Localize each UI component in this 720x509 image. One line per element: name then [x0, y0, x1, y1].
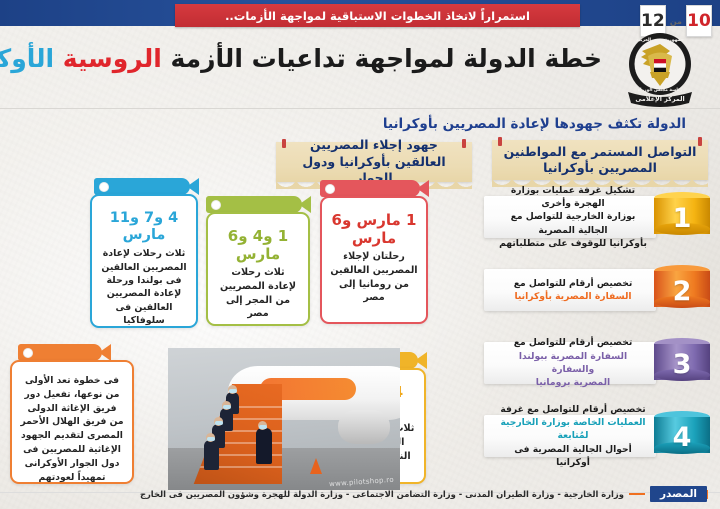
photo-traffic-cone: [310, 458, 322, 474]
subtitle-bar: الدولة تكثف جهودها لإعادة المصريين بأوكر…: [0, 112, 720, 136]
numbered-item-4-line3: أحوال الجالية المصرية فى أوكرانيا: [498, 443, 648, 470]
card-blue: 4 و7 و11 مارس ثلاث رحلات لإعادة المصريين…: [90, 194, 198, 328]
svg-text:رئاسة مجلس الوزراء: رئاسة مجلس الوزراء: [638, 88, 683, 93]
svg-text:المركز الإعلامى: المركز الإعلامى: [635, 95, 684, 103]
subtitle-text: الدولة تكثف جهودها لإعادة المصريين بأوكر…: [383, 116, 686, 132]
numbered-item-1-line1: تشكيل غرفة عمليات بوزارة الهجرة وأخرى: [498, 184, 648, 211]
numbered-item-2-line2: السفارة المصرية بأوكرانيا: [514, 290, 633, 303]
kicker-text: استمراراً لاتخاذ الخطوات الاستباقية لموا…: [225, 9, 530, 23]
source-tick: [707, 490, 708, 499]
numbered-item-2-line1: تخصيص أرقام للتواصل مع: [514, 277, 633, 290]
page-of-label: من: [669, 17, 683, 26]
numbered-item-1-text: تشكيل غرفة عمليات بوزارة الهجرة وأخرى بو…: [484, 196, 656, 238]
svg-text:جمهورية مصر العربية: جمهورية مصر العربية: [636, 38, 684, 43]
hanger-hole: [23, 348, 33, 358]
source-text: وزارة الخارجية - وزارة الطيران المدنى - …: [140, 489, 624, 499]
card-orange-hanger: [18, 344, 102, 361]
evacuation-flight-photo: www.pilotshop.ro: [168, 348, 400, 490]
card-blue-desc: ثلاث رحلات لإعادة المصريين العالقين فى ب…: [100, 247, 188, 327]
title-highlight-ukrainian: الأوكرانية: [0, 44, 54, 73]
photo-aircraft-engine: [338, 410, 390, 444]
pin-icon: [498, 137, 502, 146]
numbered-item-3-line3: المصرية برومانيا: [498, 376, 648, 389]
card-orange: فى خطوة تعد الأولى من نوعها، تفعيل دور ف…: [10, 360, 134, 484]
header-divider: [0, 108, 720, 109]
numbered-item-3-line2: السفارة المصرية ببولندا والسفارة: [498, 350, 648, 377]
pin-icon: [282, 139, 286, 148]
page-title: خطة الدولة لمواجهة تداعيات الأزمة الروسي…: [10, 44, 602, 73]
numbered-item-1-number: 1: [654, 200, 710, 236]
card-red-hanger: [320, 180, 420, 197]
hanger-hole: [211, 200, 221, 210]
numbered-item-3-number: 3: [654, 346, 710, 382]
photo-crew-member: [204, 440, 219, 470]
card-red-date: 1 مارس و6 مارس: [330, 212, 418, 247]
numbered-item-3-cylinder: 3: [654, 338, 710, 388]
card-green-date: 1 و4 و6 مارس: [216, 228, 300, 263]
source-bar: المصدر وزارة الخارجية - وزارة الطيران ال…: [0, 485, 720, 503]
numbered-item-4-line1: تخصيص أرقام للتواصل مع غرفة: [498, 403, 648, 416]
hanger-hole: [99, 182, 109, 192]
photo-pilot: [256, 428, 272, 464]
numbered-item-2: تخصيص أرقام للتواصل مع السفارة المصرية ب…: [484, 265, 712, 317]
egypt-cabinet-media-center-logo: جمهورية مصر العربية رئاسة مجلس الوزراء ا…: [614, 30, 706, 108]
card-green-desc: ثلاث رحلات لإعادة المصريين من المجر إلى …: [216, 266, 300, 320]
title-highlight-russian: الروسية: [63, 44, 162, 73]
section-header-evacuation: جهود إجلاء المصريين العالقين بأوكرانيا و…: [276, 142, 472, 182]
numbered-item-3-text: تخصيص أرقام للتواصل مع السفارة المصرية ب…: [484, 342, 656, 384]
kicker-banner: استمراراً لاتخاذ الخطوات الاستباقية لموا…: [175, 4, 580, 27]
section-header-communication-text: التواصل المستمر مع المواطنين المصريين بأ…: [500, 144, 700, 177]
card-blue-hanger: [94, 178, 190, 195]
numbered-item-1-line3: بأوكرانيا للوقوف على متطلباتهم: [498, 237, 648, 250]
numbered-item-3-line1: تخصيص أرقام للتواصل مع: [498, 336, 648, 349]
card-orange-desc: فى خطوة تعد الأولى من نوعها، تفعيل دور ف…: [19, 374, 125, 484]
numbered-item-4-text: تخصيص أرقام للتواصل مع غرفة العمليات الخ…: [484, 415, 656, 457]
header: جمهورية مصر العربية رئاسة مجلس الوزراء ا…: [0, 26, 720, 110]
source-label: المصدر: [650, 486, 707, 502]
numbered-item-2-number: 2: [654, 273, 710, 309]
numbered-item-1-line2: بوزارة الخارجية للتواصل مع الجالية المصر…: [498, 210, 648, 237]
pin-icon: [698, 137, 702, 146]
numbered-item-1: تشكيل غرفة عمليات بوزارة الهجرة وأخرى بو…: [484, 192, 712, 244]
hanger-hole: [325, 184, 335, 194]
numbered-item-4-line2: العمليات الخاصة بوزارة الخارجية لمُتابعة: [498, 416, 648, 443]
card-red-desc: رحلتان لإجلاء المصريين العالقين من رومان…: [330, 250, 418, 304]
card-blue-date: 4 و7 و11 مارس: [100, 210, 188, 244]
numbered-item-4-cylinder: 4: [654, 411, 710, 461]
pin-icon: [462, 139, 466, 148]
numbered-item-2-text: تخصيص أرقام للتواصل مع السفارة المصرية ب…: [484, 269, 656, 311]
numbered-item-3: تخصيص أرقام للتواصل مع السفارة المصرية ب…: [484, 338, 712, 390]
card-red: 1 مارس و6 مارس رحلتان لإجلاء المصريين ال…: [320, 196, 428, 324]
card-green-hanger: [206, 196, 302, 213]
title-main: خطة الدولة لمواجهة تداعيات الأزمة: [171, 44, 602, 73]
source-dash: [629, 493, 645, 495]
numbered-item-1-cylinder: 1: [654, 192, 710, 242]
numbered-item-4-number: 4: [654, 419, 710, 455]
numbered-item-2-cylinder: 2: [654, 265, 710, 315]
infographic-canvas: استمراراً لاتخاذ الخطوات الاستباقية لموا…: [0, 0, 720, 509]
card-green: 1 و4 و6 مارس ثلاث رحلات لإعادة المصريين …: [206, 212, 310, 326]
section-header-communication: التواصل المستمر مع المواطنين المصريين بأ…: [492, 140, 708, 180]
numbered-item-4: تخصيص أرقام للتواصل مع غرفة العمليات الخ…: [484, 411, 712, 463]
